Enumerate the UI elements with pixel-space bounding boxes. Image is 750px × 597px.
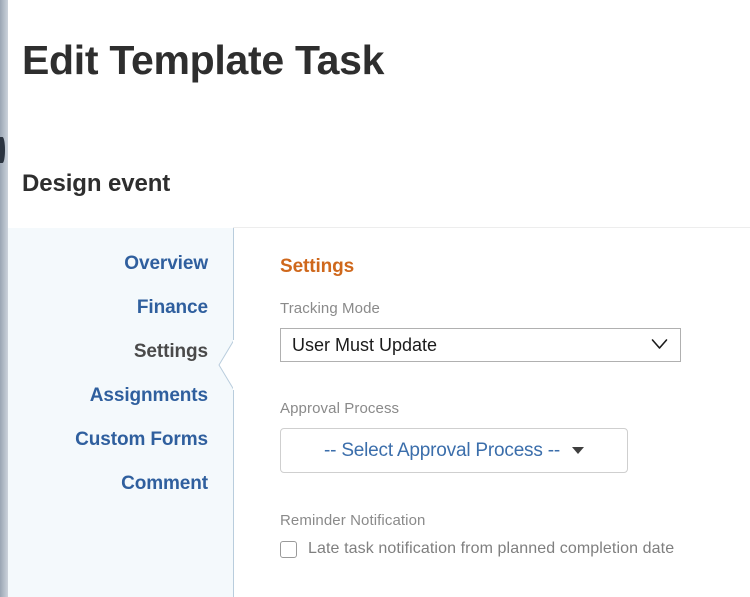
approval-process-value: -- Select Approval Process --: [324, 440, 560, 462]
page-header: Edit Template Task Design event: [8, 0, 750, 228]
late-task-notification-checkbox[interactable]: [280, 541, 297, 558]
sidebar-item-assignments[interactable]: Assignments: [8, 374, 234, 418]
caret-down-icon: [572, 447, 584, 454]
settings-panel: Settings Tracking Mode User Must Update …: [234, 228, 750, 597]
collapse-panel-arrow-icon[interactable]: [0, 137, 5, 163]
body-area: Overview Finance Settings Assignments Cu…: [8, 228, 750, 597]
page-edge-rail: [0, 0, 8, 597]
sidebar: Overview Finance Settings Assignments Cu…: [8, 228, 234, 597]
sidebar-item-finance[interactable]: Finance: [8, 286, 234, 330]
page-surface: Edit Template Task Design event Overview…: [8, 0, 750, 597]
rail-gradient: [0, 0, 8, 597]
sidebar-item-comment[interactable]: Comment: [8, 462, 234, 506]
late-task-notification-label: Late task notification from planned comp…: [308, 540, 674, 558]
tracking-mode-value: User Must Update: [292, 329, 437, 361]
page-title: Edit Template Task: [22, 38, 384, 83]
tracking-mode-select[interactable]: User Must Update: [280, 328, 681, 362]
task-name-heading: Design event: [22, 170, 170, 199]
tracking-mode-label: Tracking Mode: [280, 300, 380, 317]
sidebar-item-settings[interactable]: Settings: [8, 330, 234, 374]
sidebar-item-overview[interactable]: Overview: [8, 242, 234, 286]
sidebar-item-custom-forms[interactable]: Custom Forms: [8, 418, 234, 462]
approval-process-label: Approval Process: [280, 400, 399, 417]
approval-process-dropdown[interactable]: -- Select Approval Process --: [280, 428, 628, 473]
reminder-notification-label: Reminder Notification: [280, 512, 426, 529]
chevron-down-icon: [651, 338, 668, 351]
late-task-notification-row[interactable]: Late task notification from planned comp…: [280, 540, 674, 558]
section-heading: Settings: [280, 256, 354, 278]
sidebar-nav: Overview Finance Settings Assignments Cu…: [8, 242, 234, 506]
